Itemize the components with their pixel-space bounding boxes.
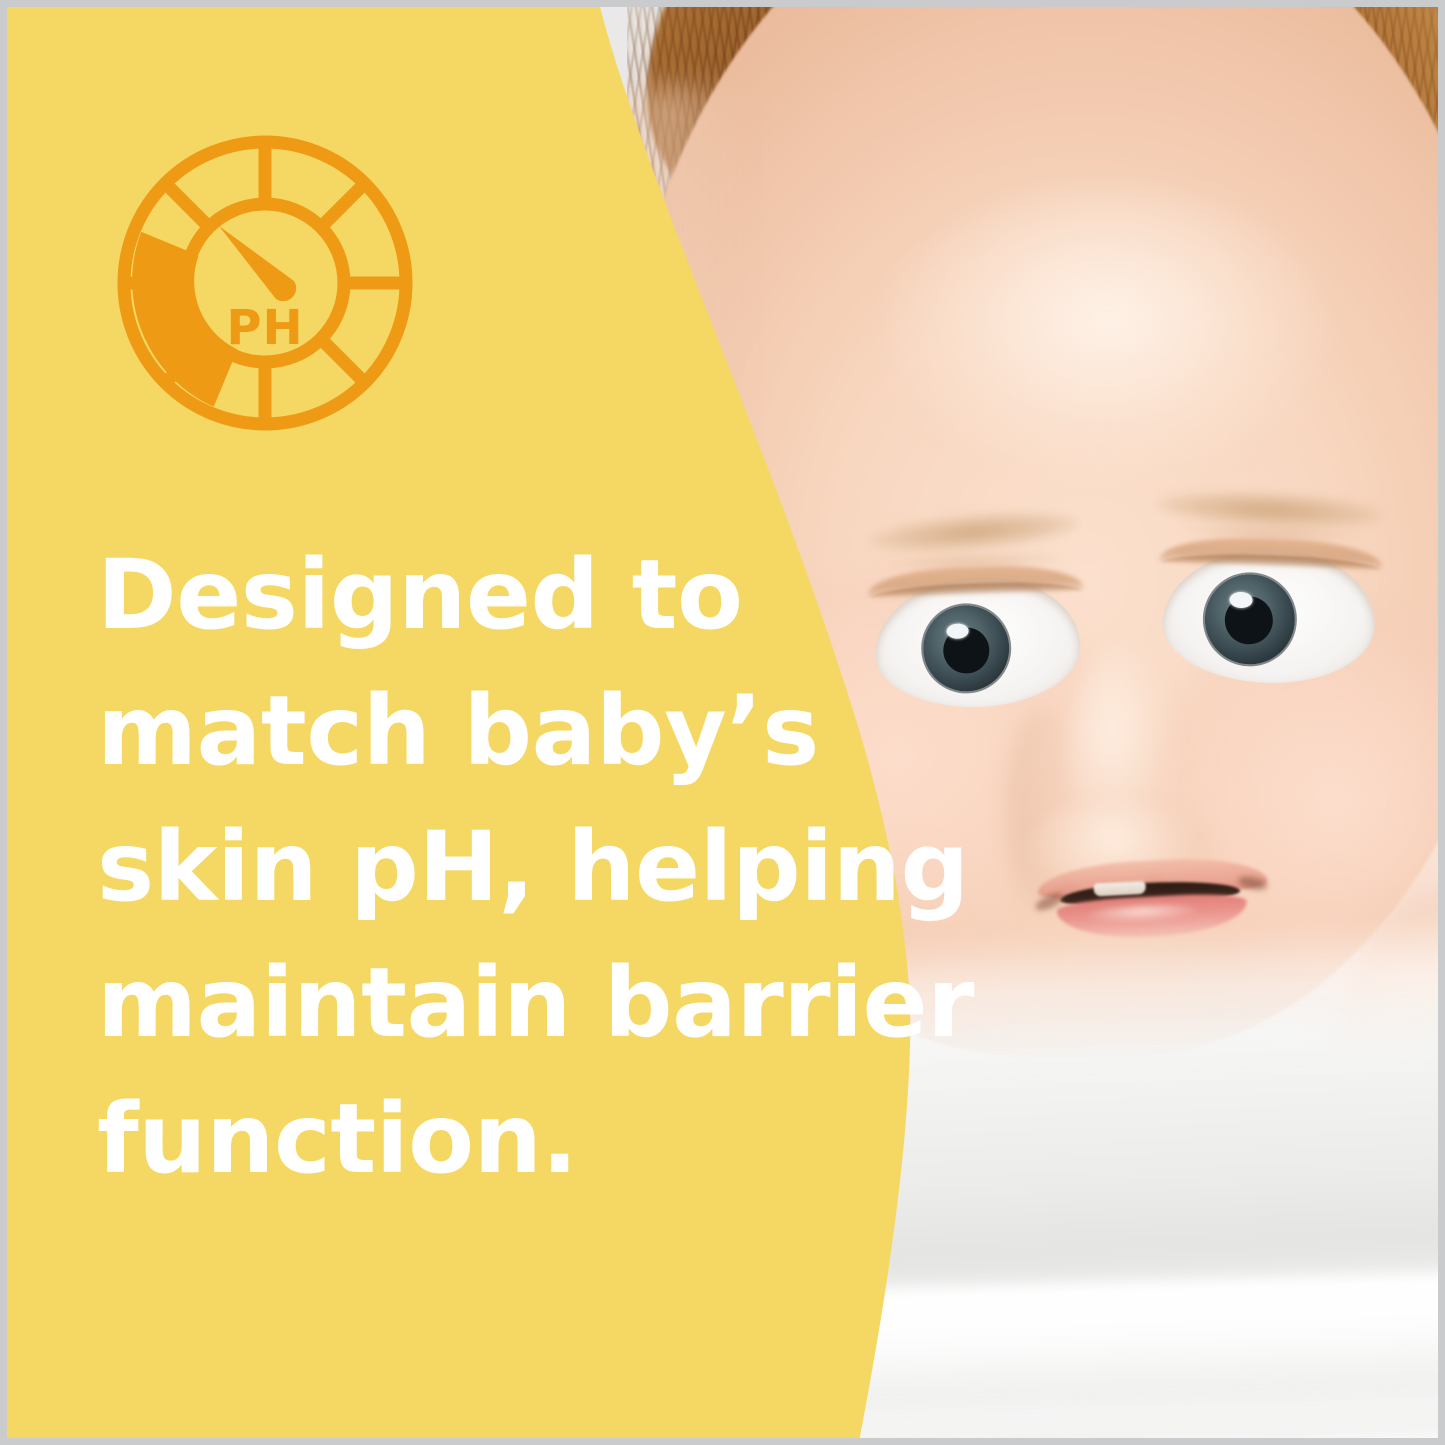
- headline: Designed to match baby’s skin pH, helpin…: [97, 527, 887, 1207]
- eye-right: [1161, 545, 1378, 686]
- ph-gauge-icon: PH: [111, 133, 419, 433]
- banner-root: PH Designed to match baby’s skin pH, hel…: [0, 0, 1445, 1445]
- headline-line-4: maintain barrier: [97, 935, 887, 1071]
- headline-line-3: skin pH, helping: [97, 799, 887, 935]
- headline-line-1: Designed to: [97, 527, 887, 663]
- headline-line-2: match baby’s: [97, 663, 887, 799]
- banner-frame: PH Designed to match baby’s skin pH, hel…: [7, 7, 1438, 1438]
- headline-line-5: function.: [97, 1071, 887, 1207]
- tooth: [1093, 881, 1146, 897]
- ph-icon-label: PH: [226, 300, 303, 356]
